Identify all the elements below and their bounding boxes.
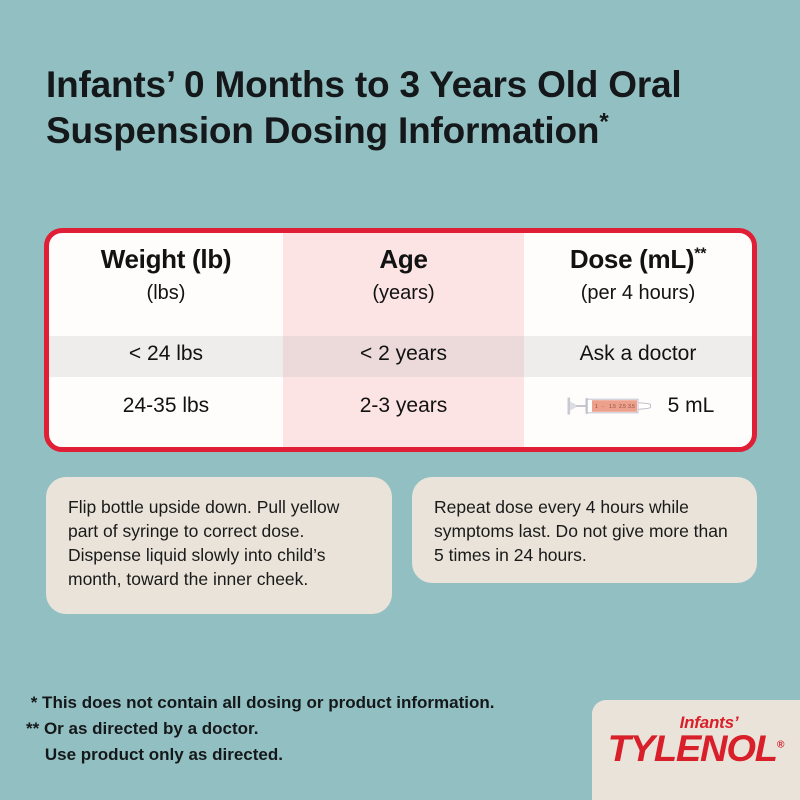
cell-weight: < 24 lbs [49, 341, 283, 366]
registered-trademark-icon: ® [777, 740, 785, 751]
column-header-age: Age [283, 245, 524, 275]
footnote-use-as-directed: Use product only as directed. [26, 742, 566, 768]
column-header-weight: Weight (lb) [49, 245, 283, 275]
svg-text:3.5: 3.5 [628, 404, 635, 410]
column-subheader-dose: (per 4 hours) [524, 281, 752, 305]
brand-logo-wordmark: TYLENOL [608, 728, 777, 769]
dose-footnote-marker: ** [694, 245, 706, 262]
page-title: Infants’ 0 Months to 3 Years Old Oral Su… [46, 62, 766, 153]
page-title-line-2: Suspension Dosing Information [46, 110, 599, 151]
table-header-row: Weight (lb) Age Dose (mL)** [49, 245, 752, 275]
footnote-double-asterisk: ** Or as directed by a doctor. [26, 716, 566, 742]
brand-logo-name: TYLENOL® [592, 730, 800, 768]
cell-dose: 1 - 1.5 2.5 3.5 5 mL [524, 393, 752, 418]
svg-text:2.5: 2.5 [619, 404, 626, 410]
column-header-dose: Dose (mL)** [524, 245, 752, 275]
cell-age: 2-3 years [283, 393, 524, 418]
dosing-table: Weight (lb) Age Dose (mL)** (lbs) (years… [44, 228, 757, 452]
footnote-single-asterisk: * This does not contain all dosing or pr… [26, 690, 566, 716]
cell-weight: 24-35 lbs [49, 393, 283, 418]
cell-dose: Ask a doctor [524, 341, 752, 366]
title-footnote-marker: * [599, 108, 608, 135]
cell-dose-value: 5 mL [668, 393, 715, 418]
syringe-icon: 1 - 1.5 2.5 3.5 [562, 395, 654, 417]
column-header-dose-label: Dose (mL) [570, 244, 694, 274]
brand-logo: Infants’ TYLENOL® [592, 700, 800, 800]
table-subheader-row: (lbs) (years) (per 4 hours) [49, 281, 752, 305]
svg-text:1.5: 1.5 [609, 404, 616, 410]
info-box-dosing-frequency: Repeat dose every 4 hours while symptoms… [412, 477, 757, 583]
table-row: 24-35 lbs 2-3 years [49, 393, 752, 418]
info-box-usage-instructions: Flip bottle upside down. Pull yellow par… [46, 477, 392, 614]
column-subheader-weight: (lbs) [49, 281, 283, 305]
column-subheader-age: (years) [283, 281, 524, 305]
footnotes: * This does not contain all dosing or pr… [26, 690, 566, 767]
cell-age: < 2 years [283, 341, 524, 366]
svg-text:1: 1 [595, 404, 598, 410]
table-row: < 24 lbs < 2 years Ask a doctor [49, 341, 752, 366]
page-title-line-1: Infants’ 0 Months to 3 Years Old Oral [46, 64, 681, 105]
